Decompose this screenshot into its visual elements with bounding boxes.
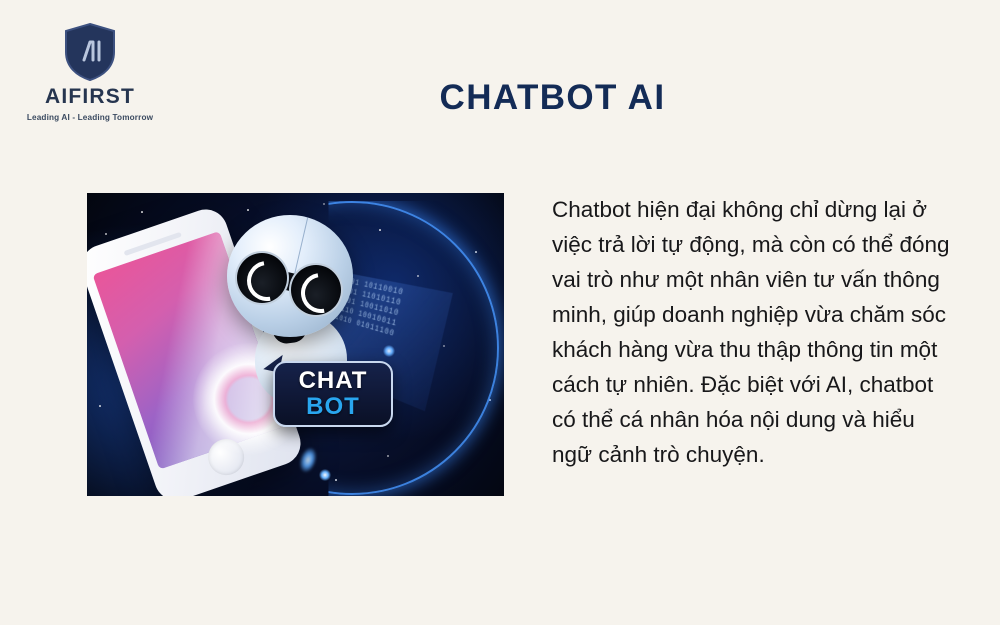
robot-head: [227, 215, 353, 337]
robot-visor: [235, 251, 343, 307]
brand-wordmark: AIFIRST: [20, 86, 160, 107]
glow-dot-bottom: [319, 469, 331, 481]
chat-bubble: CHAT BOT: [273, 361, 393, 427]
shield-icon: [62, 22, 118, 82]
brand-tagline: Leading AI - Leading Tomorrow: [20, 114, 160, 122]
chat-bubble-line1: CHAT: [299, 369, 368, 393]
body-paragraph: Chatbot hiện đại không chỉ dừng lại ở vi…: [552, 192, 952, 472]
chatbot-illustration: 01001101 10110010 01101001 11010110 0010…: [87, 193, 504, 496]
robot-eye-left: [235, 251, 289, 305]
robot-eye-right: [289, 263, 343, 317]
chat-bubble-line2: BOT: [306, 395, 360, 419]
page-title: CHATBOT AI: [300, 78, 805, 118]
brand-logo: AIFIRST Leading AI - Leading Tomorrow: [20, 22, 160, 122]
